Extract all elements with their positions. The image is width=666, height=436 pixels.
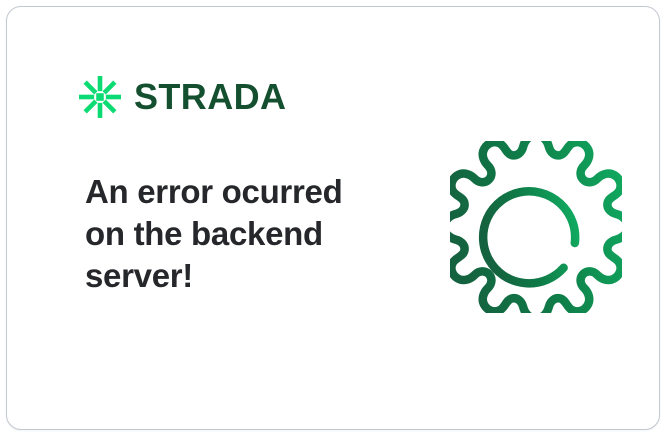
error-screen: STRADA An error ocurred on the backend s… bbox=[0, 0, 666, 436]
brand-wordmark: STRADA bbox=[134, 79, 286, 115]
strada-asterisk-icon bbox=[79, 76, 121, 118]
gear-outer-ring bbox=[450, 141, 622, 313]
brand-logo: STRADA bbox=[79, 73, 286, 121]
error-message: An error ocurred on the backend server! bbox=[85, 171, 375, 298]
gear-cog-icon bbox=[450, 141, 622, 313]
gear-inner-arc bbox=[483, 191, 575, 283]
error-card: STRADA An error ocurred on the backend s… bbox=[6, 6, 660, 430]
